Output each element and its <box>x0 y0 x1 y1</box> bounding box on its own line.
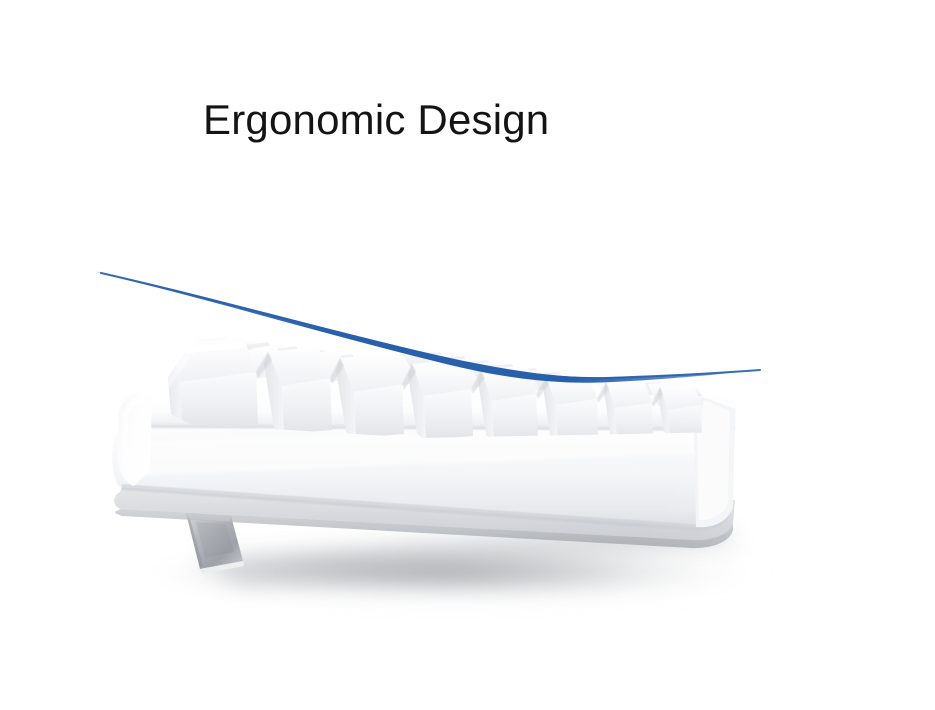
keyboard-left-endcap <box>118 392 152 486</box>
product-banner: Ergonomic Design <box>0 0 935 710</box>
page-title: Ergonomic Design <box>203 97 549 143</box>
